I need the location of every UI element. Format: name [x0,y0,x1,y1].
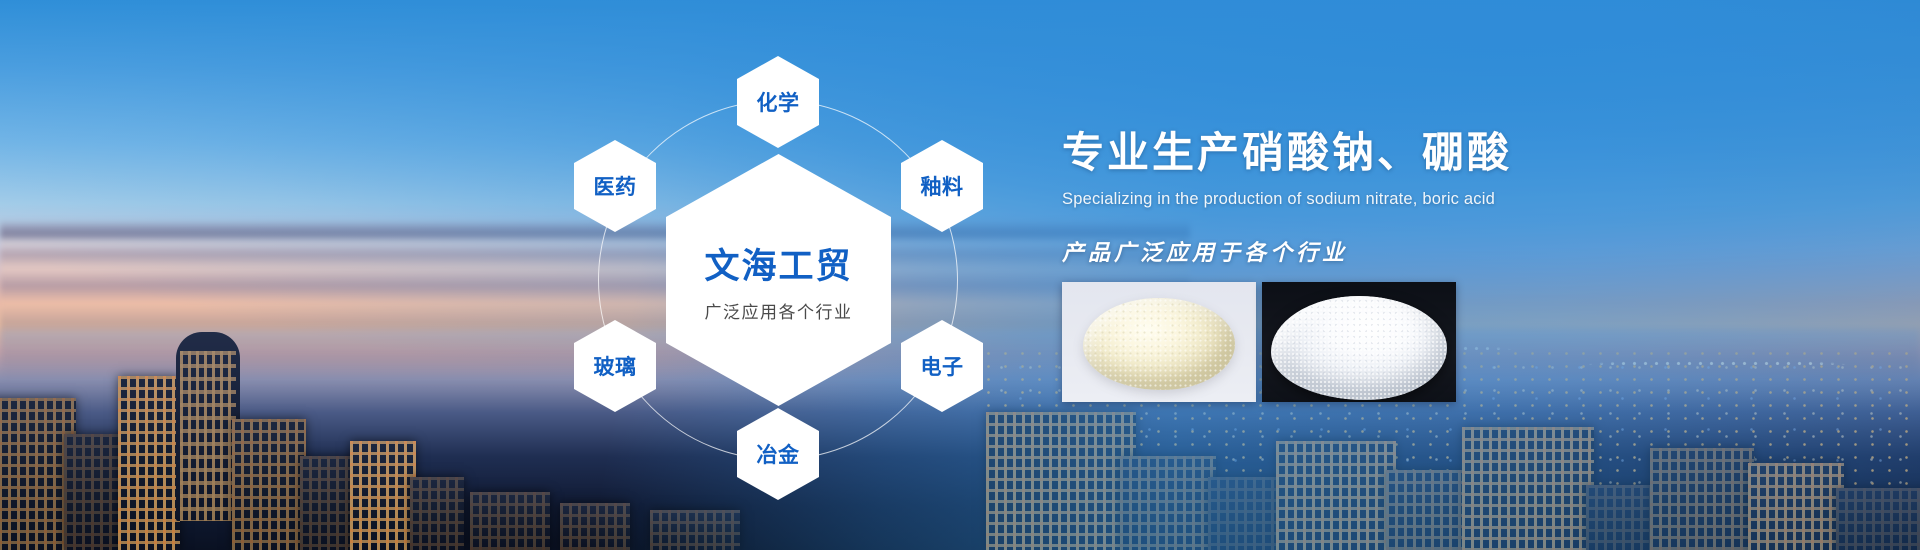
brand-name: 文海工贸 [704,238,852,289]
hex-node-label: 化学 [757,87,800,117]
product-photo-sodium-nitrate[interactable] [1062,282,1256,402]
headline-block: 专业生产硝酸钠、硼酸 Specializing in the productio… [1062,128,1852,267]
hex-node-label: 医药 [594,171,637,201]
product-photo-strip [1062,282,1456,402]
powder-mound [1083,298,1235,390]
brand-tagline: 广泛应用各个行业 [705,298,853,323]
headline-primary: 专业生产硝酸钠、硼酸 [1062,128,1852,178]
headline-tagline: 产品广泛应用于各个行业 [1062,235,1852,267]
product-photo-boric-acid[interactable] [1262,282,1456,402]
powder-mound [1271,296,1447,400]
headline-english: Specializing in the production of sodium… [1062,190,1852,209]
promotional-banner: 化学 釉料 电子 冶金 玻璃 医药 文海工贸 广泛应用各个行业 专业生产硝酸钠、… [0,0,1920,550]
hex-node-label: 玻璃 [594,351,637,381]
hex-node-label: 冶金 [757,439,800,469]
hex-node-label: 釉料 [921,171,964,201]
hex-node-label: 电子 [921,351,964,381]
applications-diagram: 化学 釉料 电子 冶金 玻璃 医药 文海工贸 广泛应用各个行业 [528,30,1028,530]
